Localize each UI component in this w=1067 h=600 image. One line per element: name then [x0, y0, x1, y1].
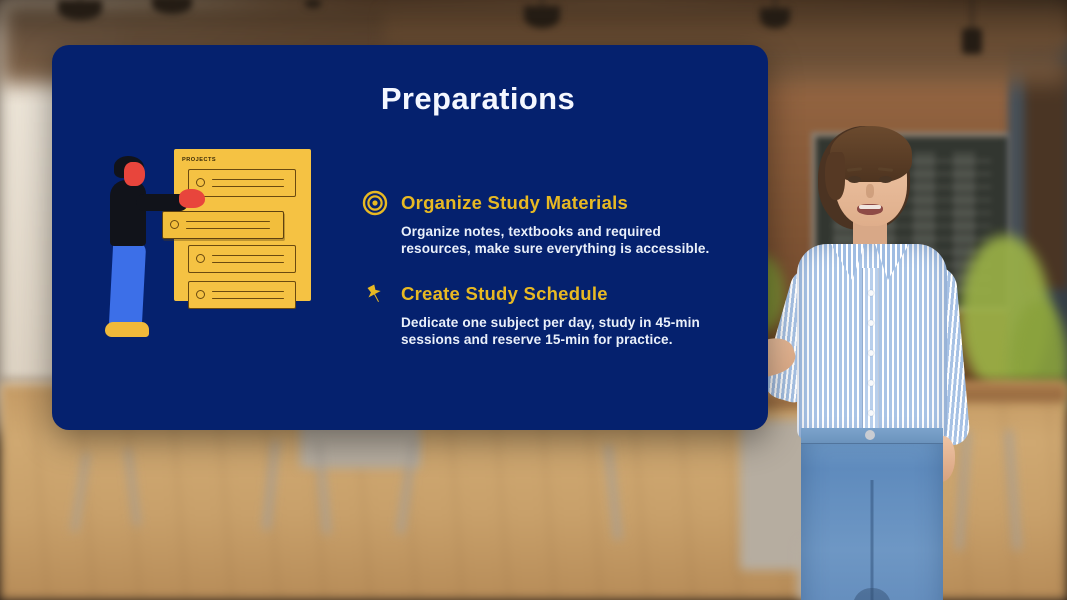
card-line	[212, 255, 284, 256]
avatar-eye	[879, 176, 892, 183]
bullet-block-create-study-schedule: Create Study Schedule Dedicate one subje…	[362, 281, 762, 349]
avatar-eye	[848, 176, 861, 183]
pendant-lamp-icon	[760, 8, 790, 28]
pendant-lamp-icon	[524, 6, 560, 28]
card-line	[212, 262, 284, 263]
card-line	[186, 221, 270, 222]
pendant-lamp-icon	[962, 28, 982, 54]
card-line	[212, 291, 284, 292]
checkbox-icon	[196, 178, 205, 187]
project-card	[188, 245, 296, 273]
slide-bullet-list: Organize Study Materials Organize notes,…	[362, 190, 762, 372]
bullet-body: Dedicate one subject per day, study in 4…	[401, 314, 762, 349]
bullet-title: Organize Study Materials	[401, 192, 628, 214]
bullet-heading-row: Create Study Schedule	[362, 281, 762, 307]
bullet-body-line: resources, make sure everything is acces…	[401, 240, 762, 257]
presenter-avatar	[735, 118, 985, 600]
card-line	[212, 298, 284, 299]
checkbox-icon	[196, 254, 205, 263]
bullet-body-line: sessions and reserve 15-min for practice…	[401, 331, 762, 348]
checkbox-icon	[196, 290, 205, 299]
slide-illustration: PROJECTS	[98, 140, 343, 355]
project-board-label: PROJECTS	[182, 157, 216, 163]
slide-panel: Preparations PROJECTS	[52, 45, 768, 430]
avatar-mouth	[857, 204, 883, 215]
project-card	[188, 169, 296, 197]
bullet-body: Organize notes, textbooks and required r…	[401, 223, 762, 258]
avatar-shirt-button	[868, 350, 874, 356]
avatar-shirt-button	[868, 410, 874, 416]
project-board: PROJECTS	[174, 149, 311, 301]
card-line	[186, 228, 270, 229]
page-title: Preparations	[52, 81, 768, 117]
card-line	[212, 186, 284, 187]
project-card	[188, 281, 296, 309]
avatar-hair	[830, 126, 912, 182]
pendant-lamp-icon	[58, 0, 102, 20]
pendant-lamp-icon	[305, 0, 321, 8]
illustration-person-hand	[179, 189, 205, 208]
presentation-stage: Preparations PROJECTS	[0, 0, 1067, 600]
avatar-shirt-button	[868, 320, 874, 326]
illustration-person-legs	[109, 242, 147, 328]
bullet-heading-row: Organize Study Materials	[362, 190, 762, 216]
target-icon	[362, 190, 388, 216]
checkbox-icon	[170, 220, 179, 229]
bullet-block-organize-study-materials: Organize Study Materials Organize notes,…	[362, 190, 762, 258]
card-line	[212, 179, 284, 180]
bullet-body-line: Dedicate one subject per day, study in 4…	[401, 314, 762, 331]
avatar-jeans	[801, 428, 943, 600]
pushpin-icon	[362, 281, 388, 307]
illustration-person-shoes	[105, 322, 149, 337]
avatar-shirt-button	[868, 380, 874, 386]
avatar-jeans-button	[865, 430, 875, 440]
illustration-person-face	[124, 162, 145, 186]
avatar-shirt-button	[868, 290, 874, 296]
avatar-nose	[866, 184, 874, 198]
project-card-dragged	[162, 211, 284, 239]
bullet-title: Create Study Schedule	[401, 283, 608, 305]
bullet-body-line: Organize notes, textbooks and required	[401, 223, 762, 240]
illustration-person-torso	[110, 180, 146, 246]
